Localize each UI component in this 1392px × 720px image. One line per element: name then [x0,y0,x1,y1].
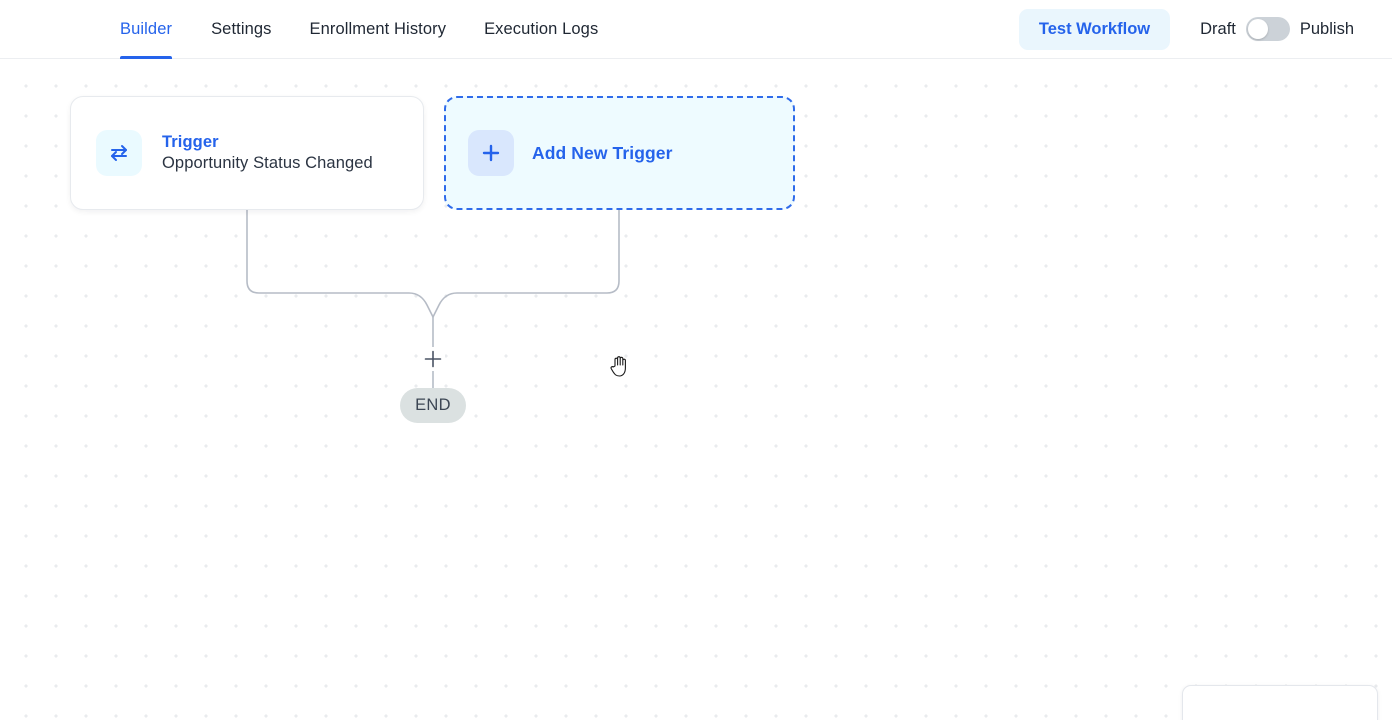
workflow-canvas[interactable]: Trigger Opportunity Status Changed Add N… [0,59,1392,720]
canvas-minimap[interactable] [1182,685,1378,720]
tab-enrollment-history[interactable]: Enrollment History [290,0,465,59]
swap-arrows-icon [96,130,142,176]
header-actions: Test Workflow Draft Publish [1019,9,1392,50]
main-tabs: Builder Settings Enrollment History Exec… [120,0,617,59]
test-workflow-button[interactable]: Test Workflow [1019,9,1170,50]
trigger-node-title: Trigger [162,133,373,152]
publish-toggle-group: Draft Publish [1200,17,1354,41]
tab-execution-logs[interactable]: Execution Logs [465,0,617,59]
end-node[interactable]: END [400,388,466,423]
grab-hand-cursor [608,353,632,379]
publish-label: Publish [1300,20,1354,39]
draft-label: Draft [1200,20,1236,39]
trigger-node-subtitle: Opportunity Status Changed [162,154,373,173]
add-new-trigger-label: Add New Trigger [532,143,673,164]
tab-settings[interactable]: Settings [192,0,290,59]
publish-toggle[interactable] [1246,17,1290,41]
add-new-trigger-card[interactable]: Add New Trigger [444,96,795,210]
tab-settings-label: Settings [211,20,271,39]
plus-icon [468,130,514,176]
tab-enrollment-history-label: Enrollment History [309,20,446,39]
publish-toggle-knob [1248,19,1268,39]
app-header: Builder Settings Enrollment History Exec… [0,0,1392,59]
tab-builder[interactable]: Builder [120,0,192,59]
trigger-node-card[interactable]: Trigger Opportunity Status Changed [70,96,424,210]
tab-builder-label: Builder [120,20,172,39]
add-step-plus-icon[interactable] [421,347,445,371]
tab-execution-logs-label: Execution Logs [484,20,598,39]
trigger-node-text: Trigger Opportunity Status Changed [162,133,373,173]
